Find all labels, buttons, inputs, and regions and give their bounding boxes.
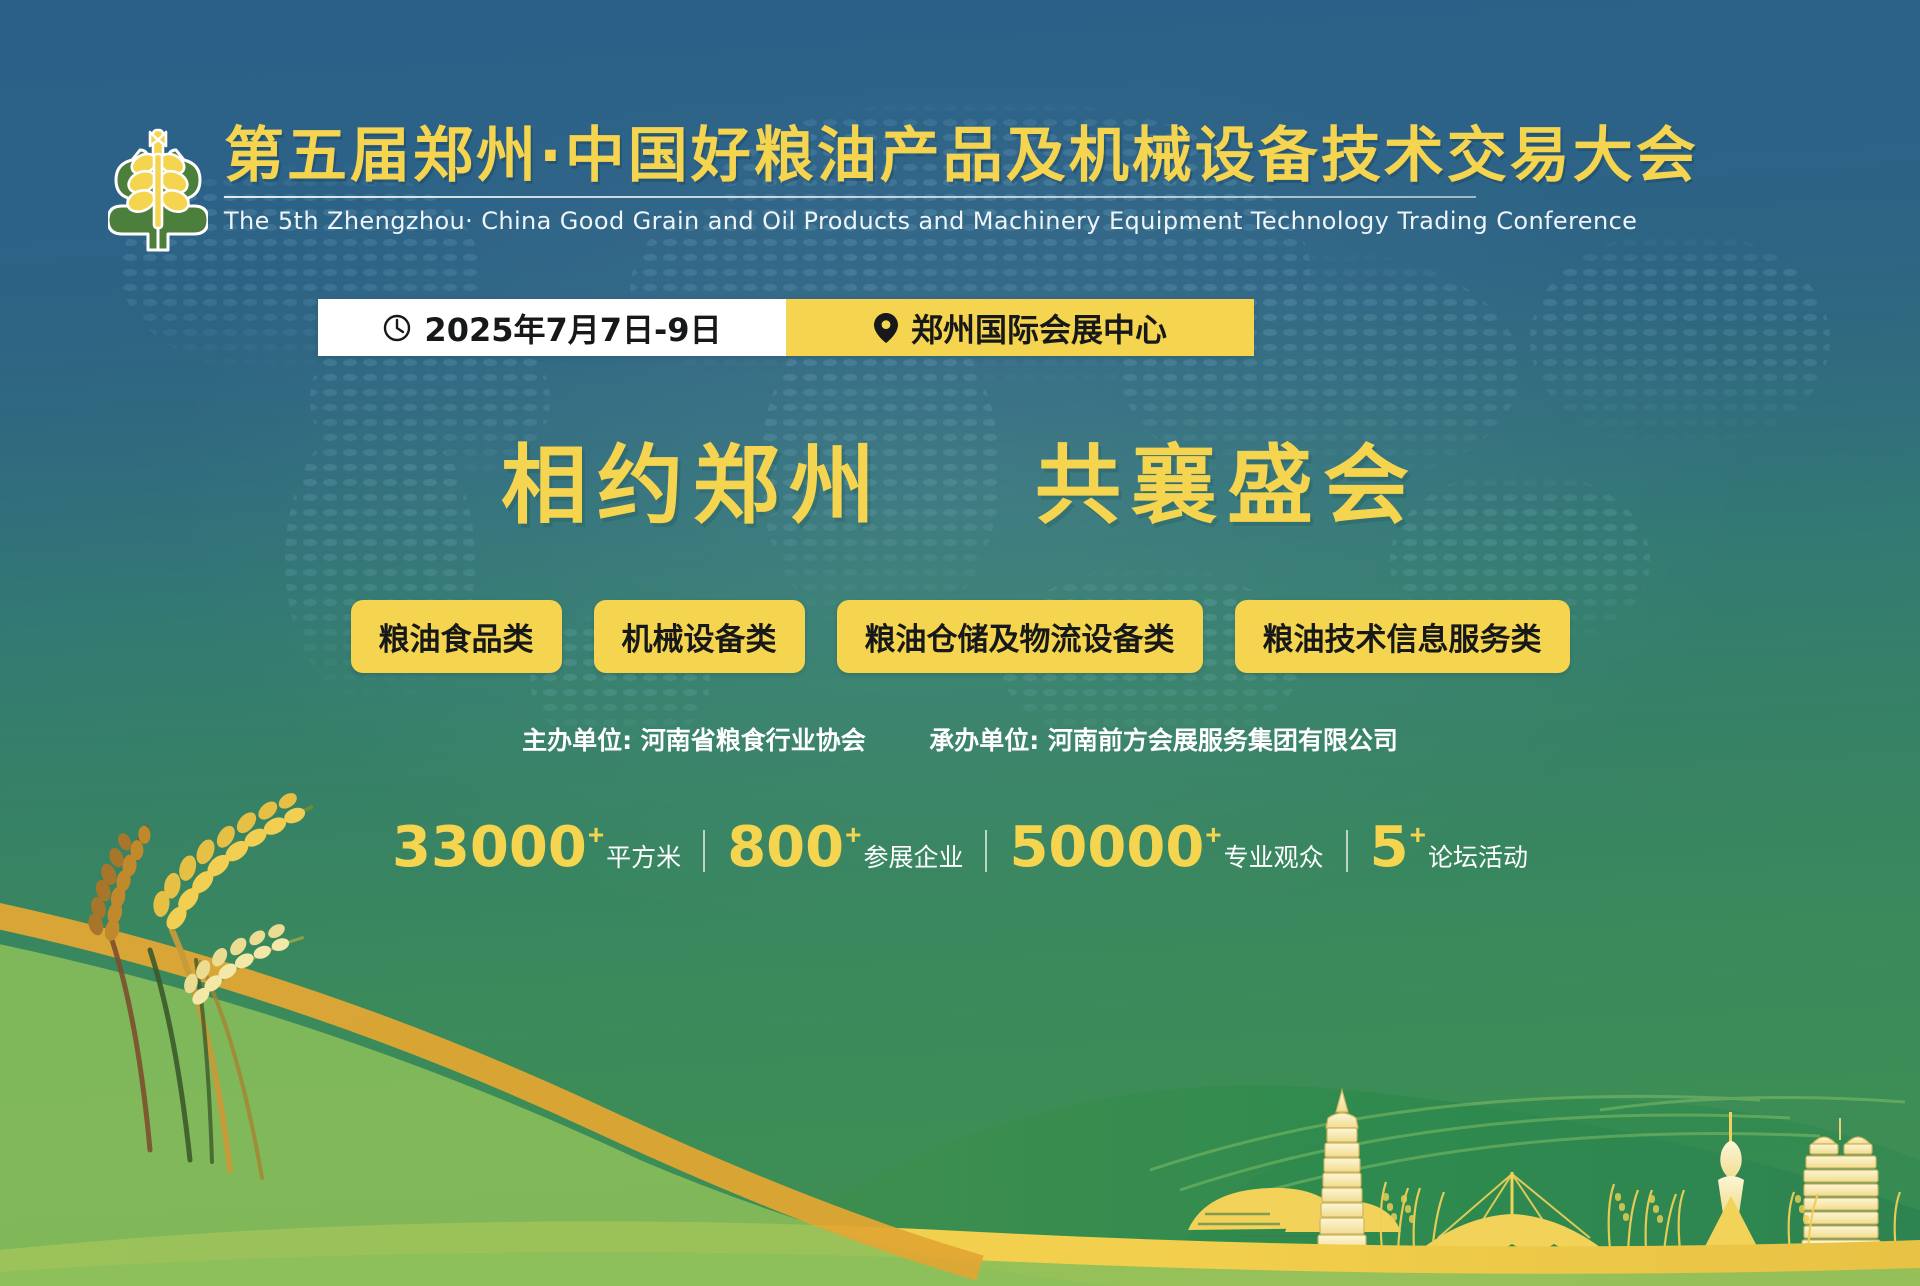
category-pill-machinery-equipment[interactable]: 机械设备类 (594, 600, 805, 673)
wheat-ear-logo (108, 124, 208, 254)
slogan-right: 共襄盛会 (1035, 435, 1419, 536)
title-block: 第五届郑州·中国好粮油产品及机械设备技术交易大会 The 5th Zhengzh… (224, 122, 1508, 235)
conference-banner: 第五届郑州·中国好粮油产品及机械设备技术交易大会 The 5th Zhengzh… (0, 0, 1920, 1286)
host-organization: 主办单位: 河南省粮食行业协会 (522, 726, 866, 755)
title-divider-rule (224, 196, 1476, 198)
category-pill-tech-info-service[interactable]: 粮油技术信息服务类 (1235, 600, 1570, 673)
stat-plus: + (588, 819, 604, 851)
stat-plus: + (1205, 819, 1221, 851)
category-pill-storage-logistics[interactable]: 粮油仓储及物流设备类 (837, 600, 1203, 673)
date-venue-bar: 2025年7月7日-9日 郑州国际会展中心 (318, 299, 1254, 356)
stat-number: 50000 (1009, 820, 1204, 876)
stat-exhibition-area: 33000 + 平方米 (370, 820, 703, 876)
slogan: 相约郑州 共襄盛会 (0, 415, 1920, 540)
location-pin-icon (873, 312, 899, 344)
venue-segment: 郑州国际会展中心 (786, 299, 1254, 356)
co-organizer: 承办单位: 河南前方会展服务集团有限公司 (929, 726, 1398, 755)
organizer-line: 主办单位: 河南省粮食行业协会 承办单位: 河南前方会展服务集团有限公司 (0, 721, 1920, 757)
category-pill-grain-oil-food[interactable]: 粮油食品类 (351, 600, 562, 673)
stat-unit: 参展企业 (863, 838, 963, 874)
stat-forums: 5 + 论坛活动 (1348, 820, 1550, 876)
stat-number: 33000 (392, 820, 587, 876)
stat-unit: 平方米 (606, 838, 681, 874)
stat-plus: + (1410, 819, 1426, 851)
stat-divider (1346, 830, 1348, 872)
stat-number: 800 (727, 820, 844, 876)
stat-visitors: 50000 + 专业观众 (987, 820, 1345, 876)
stat-unit: 专业观众 (1224, 838, 1324, 874)
date-segment: 2025年7月7日-9日 (318, 299, 786, 356)
stat-divider (703, 830, 705, 872)
conference-title-en: The 5th Zhengzhou· China Good Grain and … (224, 207, 1508, 235)
stat-exhibitors: 800 + 参展企业 (705, 820, 985, 876)
slogan-left: 相约郑州 (501, 435, 885, 536)
venue-text: 郑州国际会展中心 (911, 305, 1167, 351)
banner-header: 第五届郑州·中国好粮油产品及机械设备技术交易大会 The 5th Zhengzh… (108, 122, 1508, 262)
clock-icon (382, 313, 412, 343)
stat-divider (985, 830, 987, 872)
date-text: 2025年7月7日-9日 (424, 305, 721, 351)
statistics-row: 33000 + 平方米 800 + 参展企业 50000 + 专业观众 5 + … (0, 820, 1920, 876)
stat-number: 5 (1370, 820, 1409, 876)
conference-title-cn: 第五届郑州·中国好粮油产品及机械设备技术交易大会 (224, 122, 1508, 190)
stat-plus: + (845, 819, 861, 851)
stat-unit: 论坛活动 (1428, 838, 1528, 874)
category-pill-list: 粮油食品类 机械设备类 粮油仓储及物流设备类 粮油技术信息服务类 (0, 600, 1920, 673)
